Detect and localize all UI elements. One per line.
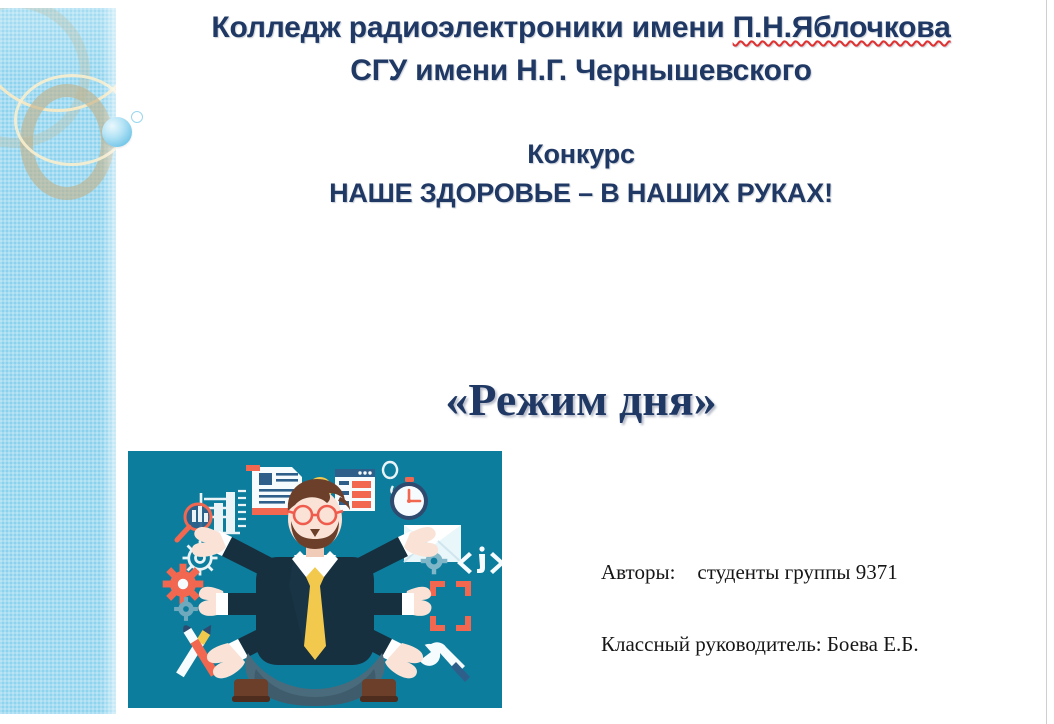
presentation-title: «Режим дня» [116, 372, 1046, 428]
institution-name-prefix: Колледж радиоэлектроники имени [211, 11, 732, 44]
gear-icon [163, 564, 204, 605]
multitasking-illustration [128, 451, 502, 708]
slide-canvas: Колледж радиоэлектроники имени П.Н.Яблоч… [0, 0, 1054, 724]
authors-value: студенты группы 9371 [697, 560, 897, 584]
bubble-small-decoration [131, 111, 143, 123]
page-right-border [1046, 0, 1047, 724]
institution-name-line-1: Колледж радиоэлектроники имени П.Н.Яблоч… [116, 9, 1046, 47]
decorative-sidebar [0, 8, 116, 714]
contest-label: Конкурс [116, 137, 1046, 171]
institution-name-misspelled-word: П.Н.Яблочкова [733, 11, 951, 44]
contest-slogan: НАШЕ ЗДОРОВЬЕ – В НАШИХ РУКАХ! [116, 176, 1046, 210]
sidebar-edge-gradient [102, 8, 116, 714]
authors-line: Авторы:студенты группы 9371 [601, 560, 898, 585]
browser-window-icon [335, 469, 375, 511]
institution-name-line-2: СГУ имени Н.Г. Чернышевского [116, 52, 1046, 90]
teacher-line: Классный руководитель: Боева Е.Б. [601, 632, 919, 657]
authors-label: Авторы: [601, 560, 675, 584]
